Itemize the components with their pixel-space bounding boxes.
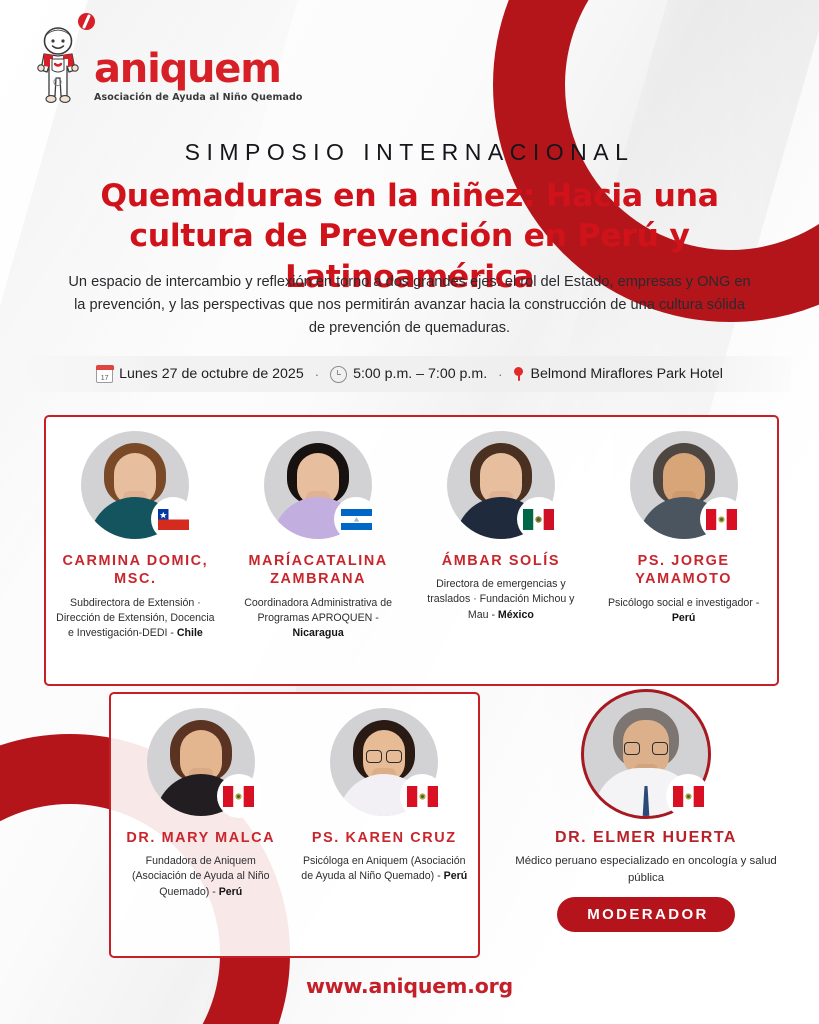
details-separator-2: · <box>496 367 504 382</box>
speaker-mary-malca: DR. MARY MALCA Fundadora de Aniquem (Aso… <box>109 692 293 954</box>
speaker-photo-wrap <box>264 431 372 539</box>
glasses-icon <box>624 742 668 755</box>
flag-badge <box>666 774 710 818</box>
moderator-photo-wrap <box>584 692 708 816</box>
speaker-country: Chile <box>177 627 203 639</box>
speaker-ambar-solis: ÁMBAR SOLÍS Directora de emergencias y t… <box>410 415 593 682</box>
flag-badge <box>700 497 744 541</box>
speaker-role: Psicólogo social e investigador - Perú <box>592 596 775 626</box>
event-description: Un espacio de intercambio y reflexión en… <box>66 271 753 340</box>
speaker-country: México <box>498 609 534 621</box>
flag-badge <box>334 497 378 541</box>
details-separator-1: · <box>313 367 321 382</box>
speaker-karen-cruz: PS. KAREN CRUZ Psicóloga en Aniquem (Aso… <box>293 692 477 954</box>
speaker-photo-wrap <box>447 431 555 539</box>
event-venue-segment: Belmond Miraflores Park Hotel <box>513 366 722 382</box>
flag-badge <box>151 497 195 541</box>
flag-badge <box>217 774 261 818</box>
speaker-role: Subdirectora de Extensión · Dirección de… <box>44 596 227 641</box>
moderator-role: Médico peruano especializado en oncologí… <box>496 853 796 886</box>
speaker-carmina-domic: CARMINA DOMIC, MSC. Subdirectora de Exte… <box>44 415 227 682</box>
poster-canvas: aniquem Asociación de Ayuda al Niño Quem… <box>0 0 819 1024</box>
speaker-country: Perú <box>672 612 696 624</box>
speakers-row-2: DR. MARY MALCA Fundadora de Aniquem (Aso… <box>109 692 476 954</box>
speaker-photo-wrap <box>147 708 255 816</box>
speaker-role: Fundadora de Aniquem (Asociación de Ayud… <box>109 854 293 899</box>
speaker-name: CARMINA DOMIC, MSC. <box>44 552 227 589</box>
speaker-photo-wrap <box>330 708 438 816</box>
clock-icon <box>330 366 347 383</box>
speaker-photo-wrap <box>81 431 189 539</box>
flag-badge <box>400 774 444 818</box>
event-time-segment: 5:00 p.m. – 7:00 p.m. <box>330 366 487 383</box>
event-kicker: SIMPOSIO INTERNACIONAL <box>0 139 819 166</box>
website-url[interactable]: www.aniquem.org <box>0 974 819 998</box>
flag-peru-icon <box>706 509 737 530</box>
aniquem-logo: aniquem Asociación de Ayuda al Niño Quem… <box>30 26 303 104</box>
logo-wordmark: aniquem Asociación de Ayuda al Niño Quem… <box>94 49 303 105</box>
flag-peru-icon <box>673 786 704 807</box>
logo-ball-icon <box>78 13 95 30</box>
calendar-icon <box>96 366 113 383</box>
moderator-block: DR. ELMER HUERTA Médico peruano especial… <box>496 692 796 967</box>
location-pin-icon <box>513 367 524 382</box>
moderator-badge: MODERADOR <box>557 897 735 932</box>
flag-chile-icon <box>158 509 189 530</box>
speaker-role: Directora de emergencias y traslados · F… <box>410 577 593 622</box>
flag-badge <box>517 497 561 541</box>
speaker-name: MARÍACATALINA ZAMBRANA <box>227 552 410 589</box>
speakers-row-1: CARMINA DOMIC, MSC. Subdirectora de Exte… <box>44 415 775 682</box>
flag-peru-icon <box>223 786 254 807</box>
speaker-country: Perú <box>444 870 468 882</box>
flag-peru-icon <box>407 786 438 807</box>
logo-word: aniquem <box>94 49 303 89</box>
glasses-icon <box>366 750 402 761</box>
speaker-mariacatalina-zambrana: MARÍACATALINA ZAMBRANA Coordinadora Admi… <box>227 415 410 682</box>
logo-tagline: Asociación de Ayuda al Niño Quemado <box>94 93 303 103</box>
speaker-name: PS. JORGE YAMAMOTO <box>592 552 775 589</box>
speaker-role: Coordinadora Administrativa de Programas… <box>227 596 410 641</box>
speaker-name: PS. KAREN CRUZ <box>312 829 457 847</box>
event-venue: Belmond Miraflores Park Hotel <box>530 366 722 382</box>
speaker-photo-wrap <box>630 431 738 539</box>
speaker-role: Psicóloga en Aniquem (Asociación de Ayud… <box>293 854 477 884</box>
logo-kid-icon <box>30 26 88 104</box>
flag-mexico-icon <box>523 509 554 530</box>
speaker-country: Nicaragua <box>293 627 344 639</box>
flag-nicaragua-icon <box>341 509 372 530</box>
event-details-bar: Lunes 27 de octubre de 2025 · 5:00 p.m. … <box>28 356 791 392</box>
moderator-name: DR. ELMER HUERTA <box>555 829 737 847</box>
event-date: Lunes 27 de octubre de 2025 <box>119 366 304 382</box>
speaker-name: ÁMBAR SOLÍS <box>442 552 560 570</box>
speaker-country: Perú <box>219 886 243 898</box>
event-date-segment: Lunes 27 de octubre de 2025 <box>96 366 304 383</box>
speaker-name: DR. MARY MALCA <box>126 829 275 847</box>
speaker-jorge-yamamoto: PS. JORGE YAMAMOTO Psicólogo social e in… <box>592 415 775 682</box>
event-time: 5:00 p.m. – 7:00 p.m. <box>353 366 487 382</box>
